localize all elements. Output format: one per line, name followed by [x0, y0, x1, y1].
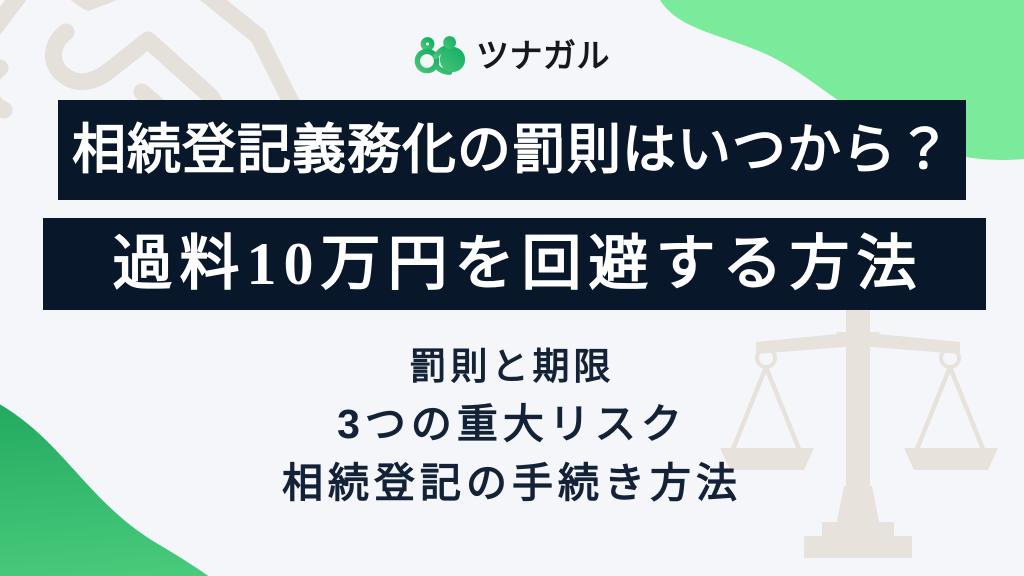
headline-line-2: 過料10万円を回避する方法 [106, 234, 924, 294]
headline-bar-secondary: 過料10万円を回避する方法 [43, 218, 986, 310]
headline-line-1: 相続登記義務化の罰則はいつから？ [72, 123, 952, 177]
brand-logo-text: ツナガル [476, 39, 610, 72]
headline-bar-primary: 相続登記義務化の罰則はいつから？ [58, 100, 966, 200]
topic-list: 罰則と期限 3つの重大リスク 相続登記の手続き方法 [0, 348, 1024, 505]
brand-logo: ツナガル [0, 32, 1024, 78]
topic-item-2: 3つの重大リスク [337, 403, 687, 446]
infinity-knot-icon [414, 35, 466, 75]
topic-item-1: 罰則と期限 [410, 348, 615, 387]
slide-canvas: ツナガル 相続登記義務化の罰則はいつから？ 過料10万円を回避する方法 罰則と期… [0, 0, 1024, 576]
topic-item-3: 相続登記の手続き方法 [282, 462, 742, 505]
